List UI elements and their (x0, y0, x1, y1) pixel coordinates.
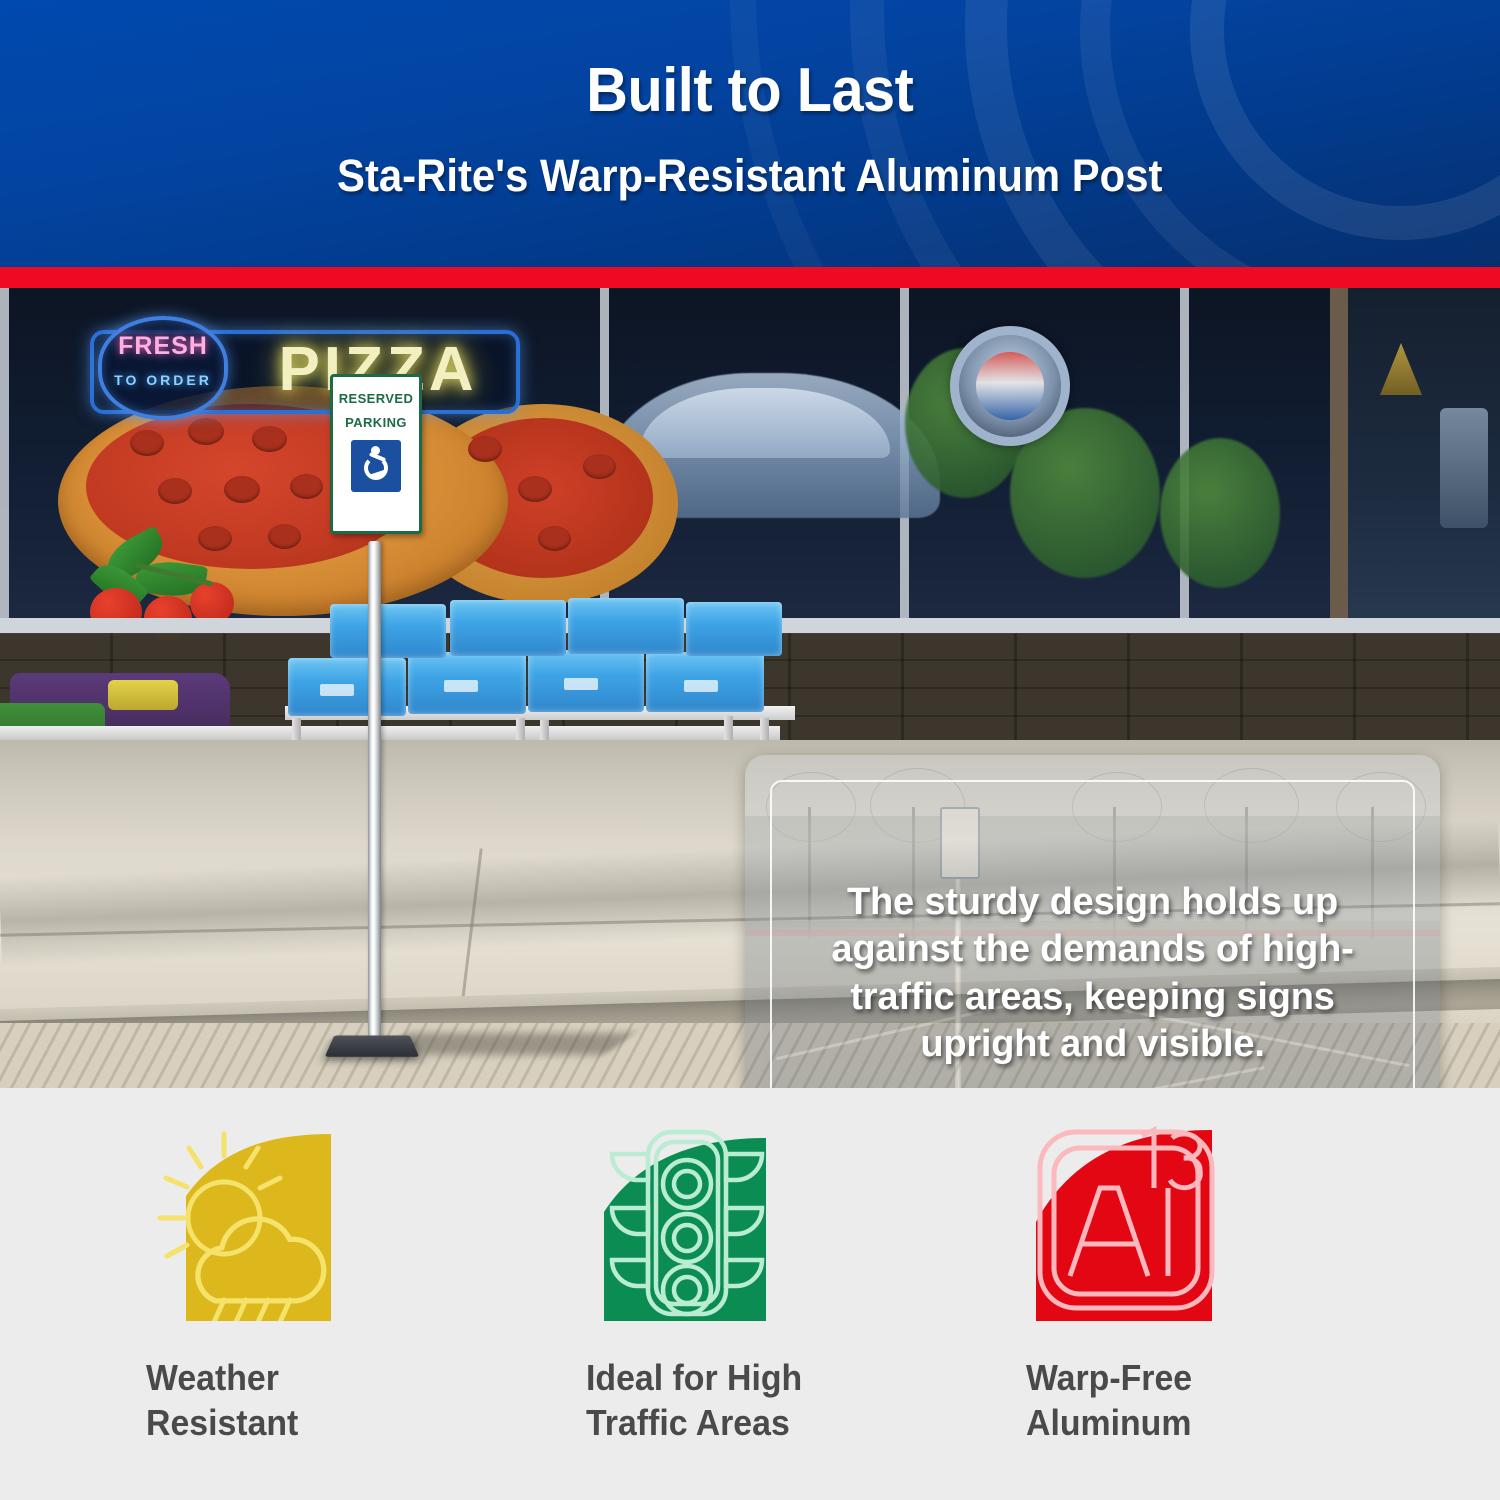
display-shelf-lower (0, 726, 780, 740)
door-decal-b (1440, 408, 1488, 528)
reserved-parking-sign: RESERVED PARKING (330, 374, 422, 534)
sign-line-2: PARKING (345, 415, 407, 430)
aluminum-post (368, 541, 381, 1051)
accent-rule (0, 267, 1500, 288)
callout-text: The sturdy design holds up against the d… (745, 755, 1440, 1088)
door-frame (1330, 288, 1348, 633)
wheelchair-accessible-icon (351, 440, 401, 492)
sun-cloud-rain-icon (146, 1126, 346, 1321)
neon-fresh-text: FRESH (100, 332, 226, 361)
page-subtitle: Sta-Rite's Warp-Resistant Aluminum Post (337, 152, 1162, 199)
callout-box: The sturdy design holds up against the d… (745, 755, 1440, 1088)
neon-to-order-text: TO ORDER (100, 372, 226, 388)
sign-line-1: RESERVED (339, 391, 413, 406)
header-banner: Built to Last Sta-Rite's Warp-Resistant … (0, 0, 1500, 267)
feature-strip: Weather Resistant (0, 1088, 1500, 1500)
yellow-bag (108, 680, 178, 710)
traffic-light-icon (586, 1126, 786, 1321)
pizza-window-graphic: FRESH TO ORDER PIZZA (38, 326, 598, 626)
feature-high-traffic: Ideal for High Traffic Areas (530, 1126, 970, 1445)
post-base-plate (325, 1036, 420, 1057)
feature-label: Ideal for High Traffic Areas (586, 1355, 802, 1445)
infographic-page: Built to Last Sta-Rite's Warp-Resistant … (0, 0, 1500, 1500)
aluminum-element-icon: Al 13 (1026, 1126, 1226, 1321)
feature-weather-resistant: Weather Resistant (90, 1126, 530, 1445)
feature-label: Weather Resistant (146, 1355, 298, 1445)
window-decal-inner (976, 352, 1044, 420)
feature-warp-free-aluminum: Al 13 Warp-Free Aluminum (970, 1126, 1410, 1445)
product-photo: FRESH TO ORDER PIZZA (0, 288, 1500, 1088)
page-title: Built to Last (586, 60, 913, 122)
feature-label: Warp-Free Aluminum (1026, 1355, 1192, 1445)
